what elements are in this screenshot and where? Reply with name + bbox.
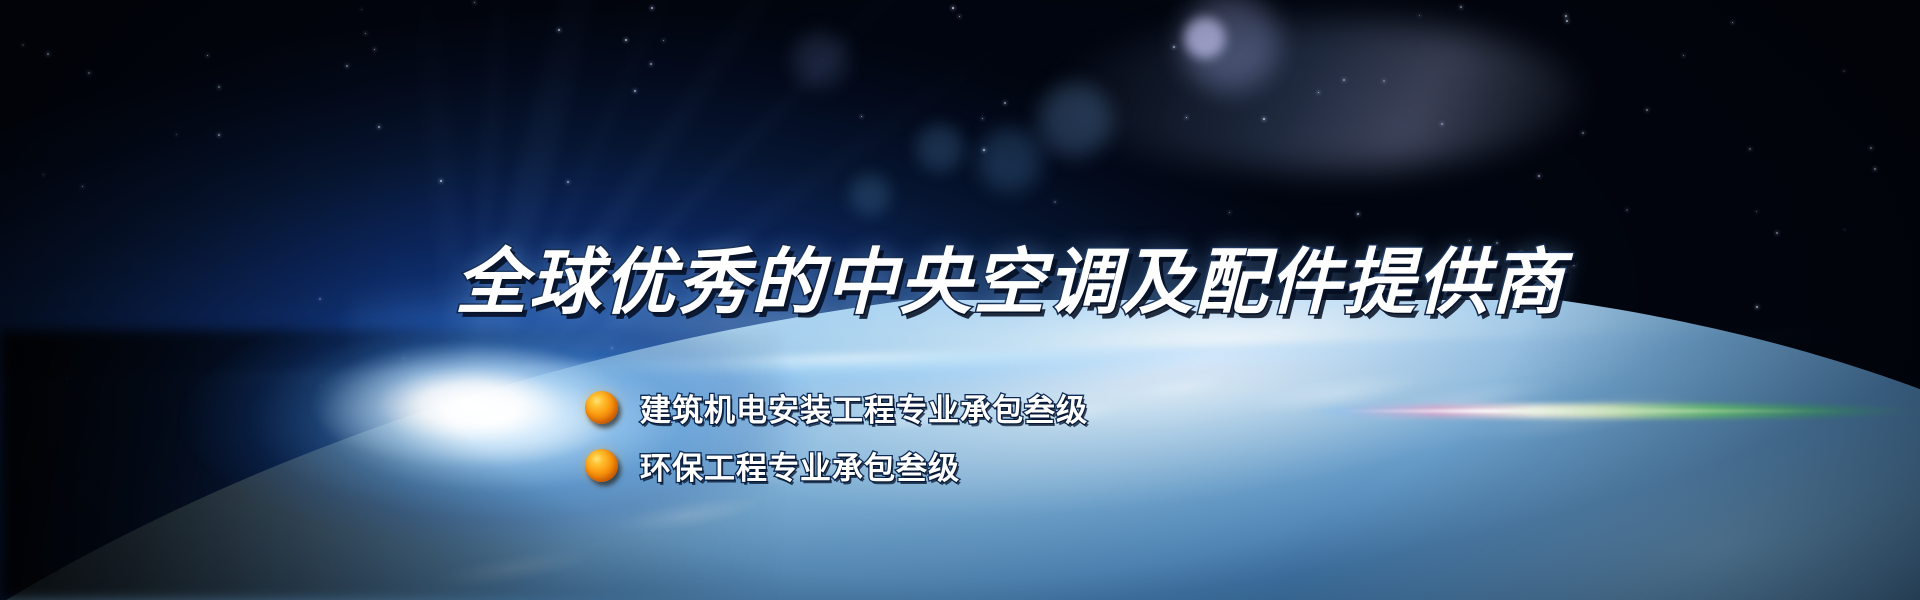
banner-headline: 全球优秀的中央空调及配件提供商 bbox=[455, 247, 1565, 319]
banner-bullet-list: 建筑机电安装工程专业承包叁级 环保工程专业承包叁级 bbox=[585, 384, 1088, 500]
orange-sphere-bullet-icon bbox=[585, 391, 618, 424]
orange-sphere-bullet-icon bbox=[585, 449, 618, 482]
bullet-label: 环保工程专业承包叁级 bbox=[640, 443, 960, 488]
list-item: 建筑机电安装工程专业承包叁级 bbox=[585, 384, 1088, 430]
hero-banner: 全球优秀的中央空调及配件提供商 建筑机电安装工程专业承包叁级 环保工程专业承包叁… bbox=[0, 0, 1920, 600]
bullet-label: 建筑机电安装工程专业承包叁级 bbox=[640, 385, 1088, 430]
banner-content: 全球优秀的中央空调及配件提供商 建筑机电安装工程专业承包叁级 环保工程专业承包叁… bbox=[0, 0, 1920, 600]
list-item: 环保工程专业承包叁级 bbox=[585, 442, 1088, 488]
